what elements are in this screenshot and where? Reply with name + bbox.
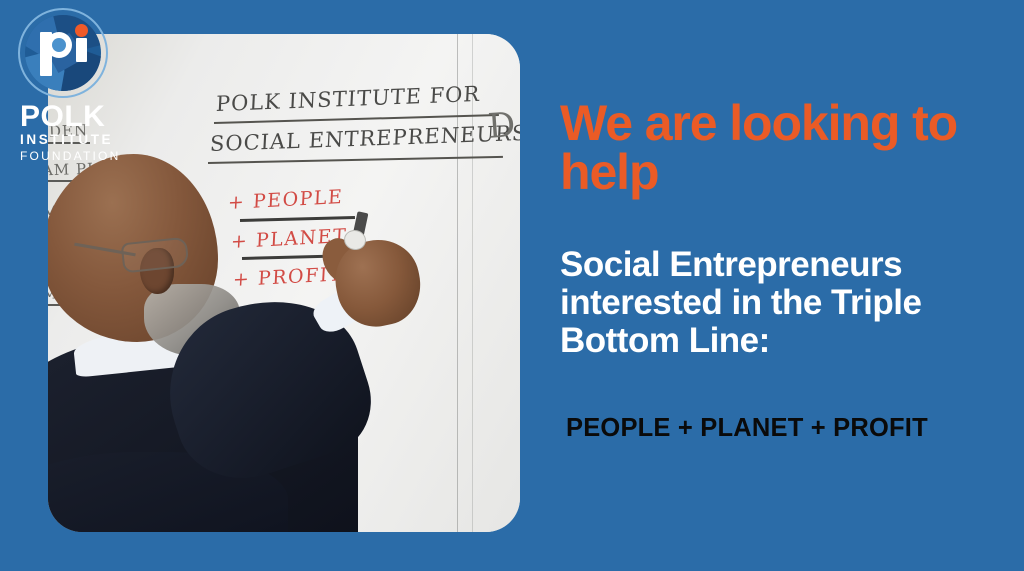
logo-name-institute: INSTITUTE xyxy=(20,132,134,149)
tagline: PEOPLE + PLANET + PROFIT xyxy=(566,414,928,443)
logo-wordmark: POLK INSTITUTE FOUNDATION xyxy=(20,102,134,164)
promo-slide: IDEN AM PLAN MBLE UNGRY MART POLK INSTIT… xyxy=(0,0,1024,571)
logo-ring xyxy=(18,8,108,98)
pi-logo-icon xyxy=(18,8,108,98)
headline: We are looking to help xyxy=(560,99,980,197)
subheadline: Social Entrepreneurs interested in the T… xyxy=(560,246,990,360)
copy-column: We are looking to help Social Entreprene… xyxy=(560,0,1004,571)
logo-name-foundation: FOUNDATION xyxy=(20,149,134,164)
logo-name-polk: POLK xyxy=(20,102,134,132)
brand-logo: POLK INSTITUTE FOUNDATION xyxy=(14,8,134,164)
